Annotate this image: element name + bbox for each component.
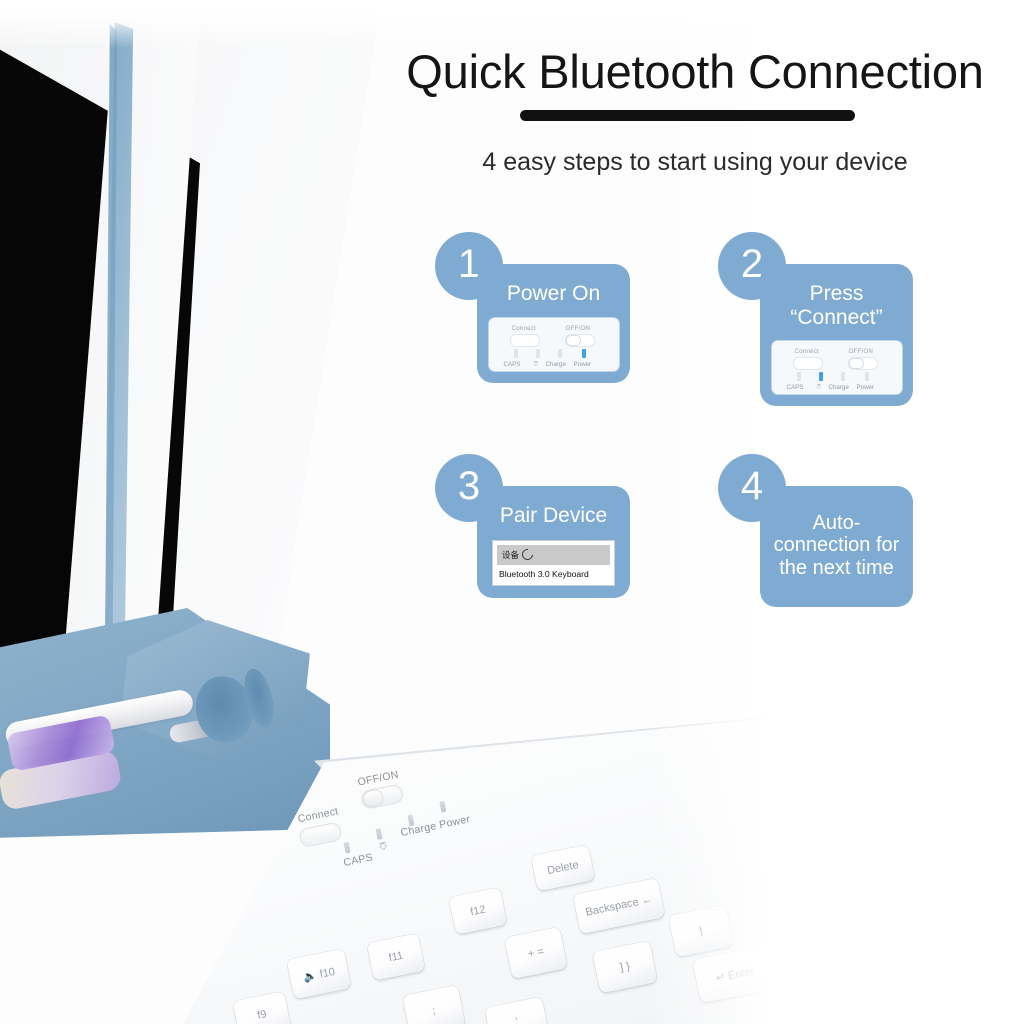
panel-bluetooth-text-1: ⎏ [534,361,539,369]
panel-led-bluetooth-1 [536,349,540,358]
panel-bluetooth-text-2: ⎏ [817,384,822,392]
step-card-body-4: Auto-connection for the next time [760,486,913,607]
panel-power-knob-1[interactable] [566,335,581,346]
step-media-1: Connect OFF/ON CAPS ⎏ Charge [485,318,622,371]
step-title-1: Power On [485,282,622,306]
refresh-icon[interactable] [520,547,535,562]
panel-led-charge-2 [841,372,845,381]
content-column: Quick Bluetooth Connection 4 easy steps … [380,0,1024,1024]
step-card-body-3: Pair Device 设备 Bluetooth 3.0 Keyboard [477,486,630,598]
panel-led-bluetooth-2 [819,372,823,381]
panel-connect-button-2[interactable] [793,357,823,370]
panel-caps-text-2: CAPS [787,384,804,391]
panel-led-caps-2 [797,372,801,381]
panel-charge-text-1: Charge [546,361,566,368]
panel-power-text-2: Power [857,384,875,391]
switch-panel-2: Connect OFF/ON CAPS ⎏ Charge [772,341,902,394]
step-title-3: Pair Device [485,504,622,528]
panel-power-knob-2[interactable] [849,358,864,369]
step-card-body-2: Press “Connect” Connect OFF/ON [760,264,913,406]
pair-dialog-title: 设备 [502,549,519,561]
panel-led-caps-1 [514,349,518,358]
panel-power-text-1: Power [574,361,592,368]
infographic-page: Connect OFF/ON CAPS ⎏ Charge Power 🔈 f10… [0,0,1024,1024]
step-card-body-1: Power On Connect OFF/ON CAPS [477,264,630,383]
panel-charge-text-2: Charge [829,384,849,391]
panel-connect-label-2: Connect [795,348,819,355]
step-media-3: 设备 Bluetooth 3.0 Keyboard [485,540,622,586]
panel-led-power-2 [865,372,869,381]
panel-caps-text-1: CAPS [504,361,521,368]
panel-connect-label-1: Connect [512,325,536,332]
deck-connect-switch[interactable] [298,821,343,848]
step-media-2: Connect OFF/ON CAPS ⎏ Charge [768,341,905,394]
panel-onoff-label-1: OFF/ON [566,325,591,332]
page-title: Quick Bluetooth Connection [380,44,1010,99]
step-title-4: Auto-connection for the next time [768,512,905,579]
title-underline [520,110,855,121]
pair-dialog-header: 设备 [497,545,610,565]
pair-dialog[interactable]: 设备 Bluetooth 3.0 Keyboard [492,540,615,586]
deck-led-caps [344,842,351,854]
step-title-2: Press “Connect” [768,282,905,329]
switch-panel-1: Connect OFF/ON CAPS ⎏ Charge [489,318,619,371]
panel-led-power-1 [582,349,586,358]
panel-connect-button-1[interactable] [510,334,540,347]
pair-device-item[interactable]: Bluetooth 3.0 Keyboard [497,565,610,581]
panel-onoff-label-2: OFF/ON [849,348,874,355]
page-subtitle: 4 easy steps to start using your device [380,148,1010,177]
panel-led-charge-1 [558,349,562,358]
